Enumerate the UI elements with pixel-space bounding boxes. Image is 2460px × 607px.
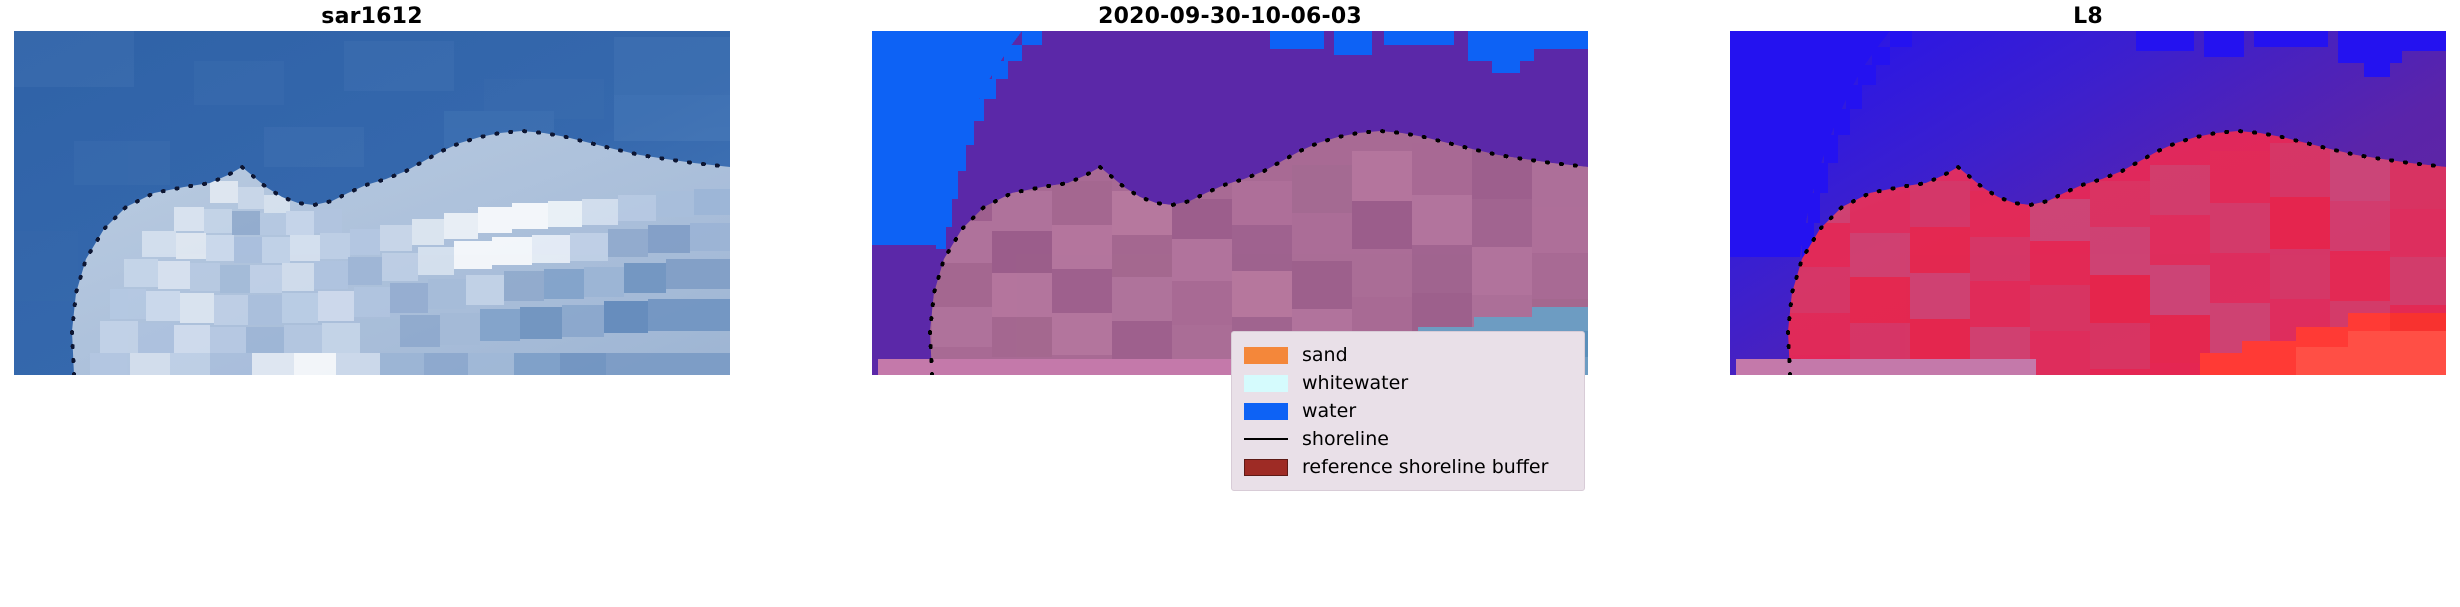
panel-l8[interactable] bbox=[1730, 31, 2446, 375]
shoreline-line bbox=[1244, 438, 1288, 440]
sand-swatch bbox=[1244, 347, 1288, 364]
panel-title-3: L8 bbox=[1730, 4, 2446, 30]
panel-title-2: 2020-09-30-10-06-03 bbox=[872, 4, 1588, 30]
legend-label-shoreline: shoreline bbox=[1302, 429, 1389, 449]
l8-image bbox=[1730, 31, 2446, 375]
legend-label-sand: sand bbox=[1302, 345, 1348, 365]
legend-item-whitewater: whitewater bbox=[1244, 369, 1574, 397]
legend-item-reference-shoreline-buffer: reference shoreline buffer bbox=[1244, 453, 1574, 481]
legend-item-water: water bbox=[1244, 397, 1574, 425]
legend-box: sand whitewater water shoreline referenc… bbox=[1231, 331, 1585, 491]
panel-title-1: sar1612 bbox=[14, 4, 730, 30]
legend-item-sand: sand bbox=[1244, 341, 1574, 369]
legend-label-reference-shoreline-buffer: reference shoreline buffer bbox=[1302, 457, 1548, 477]
panel-classified[interactable] bbox=[872, 31, 1588, 375]
sar1612-image bbox=[14, 31, 730, 375]
shoreline-line-sample bbox=[1244, 431, 1288, 448]
classified-image bbox=[872, 31, 1588, 375]
whitewater-swatch bbox=[1244, 375, 1288, 392]
panel-sar1612[interactable] bbox=[14, 31, 730, 375]
reference-shoreline-buffer-swatch bbox=[1244, 459, 1288, 476]
figure-canvas: sar1612 bbox=[0, 0, 2460, 607]
legend-item-shoreline: shoreline bbox=[1244, 425, 1574, 453]
legend-label-water: water bbox=[1302, 401, 1356, 421]
water-swatch bbox=[1244, 403, 1288, 420]
legend-label-whitewater: whitewater bbox=[1302, 373, 1408, 393]
